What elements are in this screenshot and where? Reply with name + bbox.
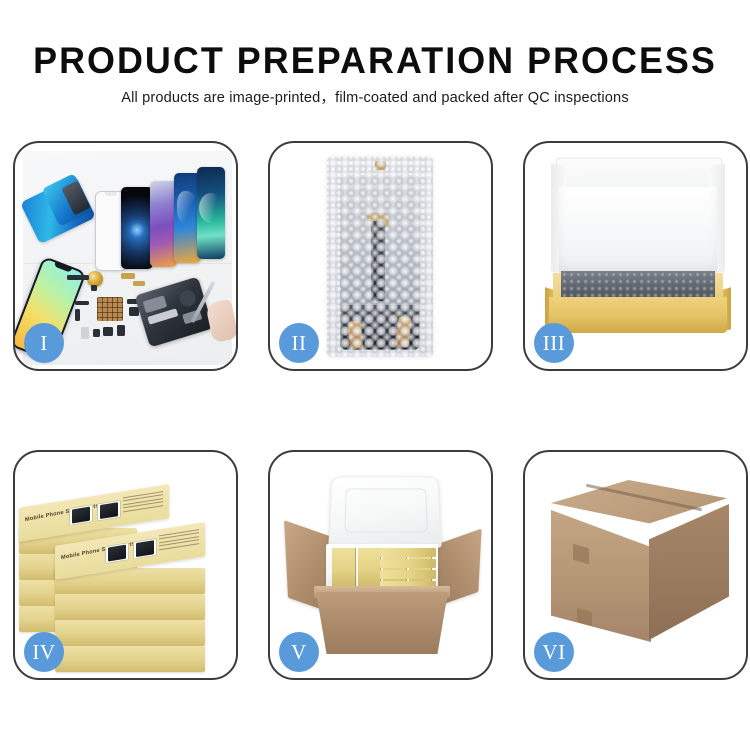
page-header: PRODUCT PREPARATION PROCESS All products… xyxy=(0,0,750,131)
carton-tape-patch-lower xyxy=(577,608,592,626)
phone-screen-dark xyxy=(121,187,153,269)
bubble-wrap-bag xyxy=(327,157,433,357)
box-window-right xyxy=(133,538,157,560)
spare-part-camera xyxy=(93,329,100,337)
yellow-box xyxy=(332,548,356,590)
box-spec-lines xyxy=(123,491,163,519)
box-window-left xyxy=(69,504,93,526)
spare-part-gold-flex xyxy=(121,273,135,279)
process-step-panel-4[interactable]: Mobile Phone Spare Parts Mobile Phone Sp… xyxy=(13,450,238,680)
phone-screen-purple xyxy=(150,181,177,267)
step-badge-5: V xyxy=(279,632,319,672)
yellow-box xyxy=(380,548,436,557)
process-step-panel-1[interactable]: I xyxy=(13,141,238,371)
box-base-front-panel xyxy=(549,297,727,333)
spare-part-connector xyxy=(75,301,89,305)
carton-body xyxy=(316,592,448,654)
yellow-box xyxy=(380,570,436,579)
box-window-left xyxy=(105,542,129,564)
spare-part-gold-flex-2 xyxy=(133,281,145,286)
spare-part-speaker xyxy=(103,327,113,336)
step-badge-3: III xyxy=(534,323,574,363)
process-step-panel-3[interactable]: III xyxy=(523,141,748,371)
process-step-panel-6[interactable]: VI xyxy=(523,450,748,680)
foam-box-lid xyxy=(328,476,441,547)
box-window-right xyxy=(97,500,121,522)
page-title: PRODUCT PREPARATION PROCESS xyxy=(11,40,739,82)
step-badge-6: VI xyxy=(534,632,574,672)
carton-right-face xyxy=(649,504,729,640)
carton-left-face xyxy=(551,510,651,642)
spare-part-pin xyxy=(75,309,80,321)
spare-part-screw-pack xyxy=(91,285,97,291)
step-badge-2: II xyxy=(279,323,319,363)
box-spec-lines xyxy=(159,529,199,557)
yellow-boxes-row-horizontal xyxy=(380,548,436,590)
step-badge-1: I xyxy=(24,323,64,363)
process-step-panel-5[interactable]: V xyxy=(268,450,493,680)
stacked-box xyxy=(55,620,205,646)
spare-part-sim-tray xyxy=(81,327,89,339)
phone-screen-teal xyxy=(197,167,225,259)
spare-part-button xyxy=(117,325,125,336)
stacked-box xyxy=(55,646,205,672)
bubble-texture-layer-2 xyxy=(327,157,433,357)
yellow-box xyxy=(380,559,436,568)
spare-part-strip xyxy=(67,275,89,280)
bubble-wrapped-contents xyxy=(561,271,715,299)
box-lid-inner-face xyxy=(559,187,717,273)
step-badge-4: IV xyxy=(24,632,64,672)
yellow-box xyxy=(358,548,382,590)
chip-grid-component xyxy=(97,297,123,321)
stacked-box xyxy=(55,594,205,620)
process-step-panel-2[interactable]: II xyxy=(268,141,493,371)
process-step-grid: I II xyxy=(13,141,740,680)
page-subtitle: All products are image-printed，film-coat… xyxy=(0,88,750,108)
